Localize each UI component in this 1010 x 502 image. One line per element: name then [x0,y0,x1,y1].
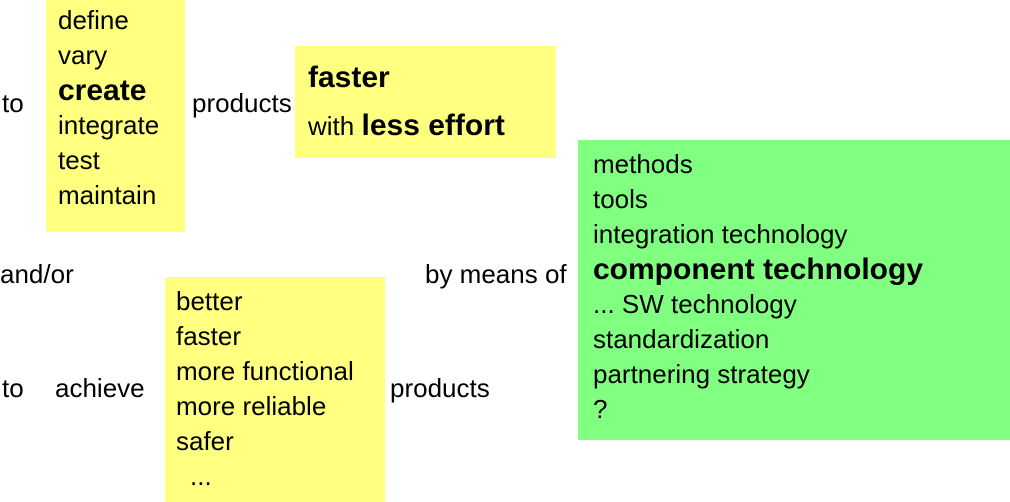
list-item: methods [593,147,923,182]
list-item: test [58,143,159,178]
list-item: safer [176,424,354,459]
connector-achieve: achieve [55,373,145,403]
with-prefix: with [308,111,354,141]
list-item: define [58,3,159,38]
list-item: better [176,284,354,319]
connector-products-lower: products [390,373,490,403]
list-item-emphasized: component technology [593,252,923,287]
list-item: ? [593,392,923,427]
list-item: faster [176,319,354,354]
list-item: standardization [593,322,923,357]
list-item: tools [593,182,923,217]
faster-emphasis: faster [308,61,390,94]
list-item: more reliable [176,389,354,424]
connector-and-or: and/or [0,259,74,289]
means-list: methods tools integration technology com… [593,147,923,427]
connector-to-achieve: to [2,373,24,403]
list-item: integrate [58,108,159,143]
list-item: vary [58,38,159,73]
product-qualities-list: better faster more functional more relia… [176,284,354,494]
list-item: maintain [58,178,159,213]
faster-line: faster [308,54,505,102]
list-item: more functional [176,354,354,389]
faster-less-effort-lines: faster with less effort [308,54,505,150]
list-item: ... SW technology [593,287,923,322]
list-item-ellipsis: ... [176,459,354,494]
list-item: integration technology [593,217,923,252]
list-item: partnering strategy [593,357,923,392]
connector-to-create: to [2,88,24,118]
diagram-canvas: define vary create integrate test mainta… [0,0,1010,502]
list-item-emphasized: create [58,73,159,108]
less-effort-line: with less effort [308,102,505,150]
connector-by-means-of: by means of [425,259,567,289]
less-effort-emphasis: less effort [361,109,504,142]
create-actions-list: define vary create integrate test mainta… [58,3,159,213]
connector-products-upper: products [192,88,292,118]
